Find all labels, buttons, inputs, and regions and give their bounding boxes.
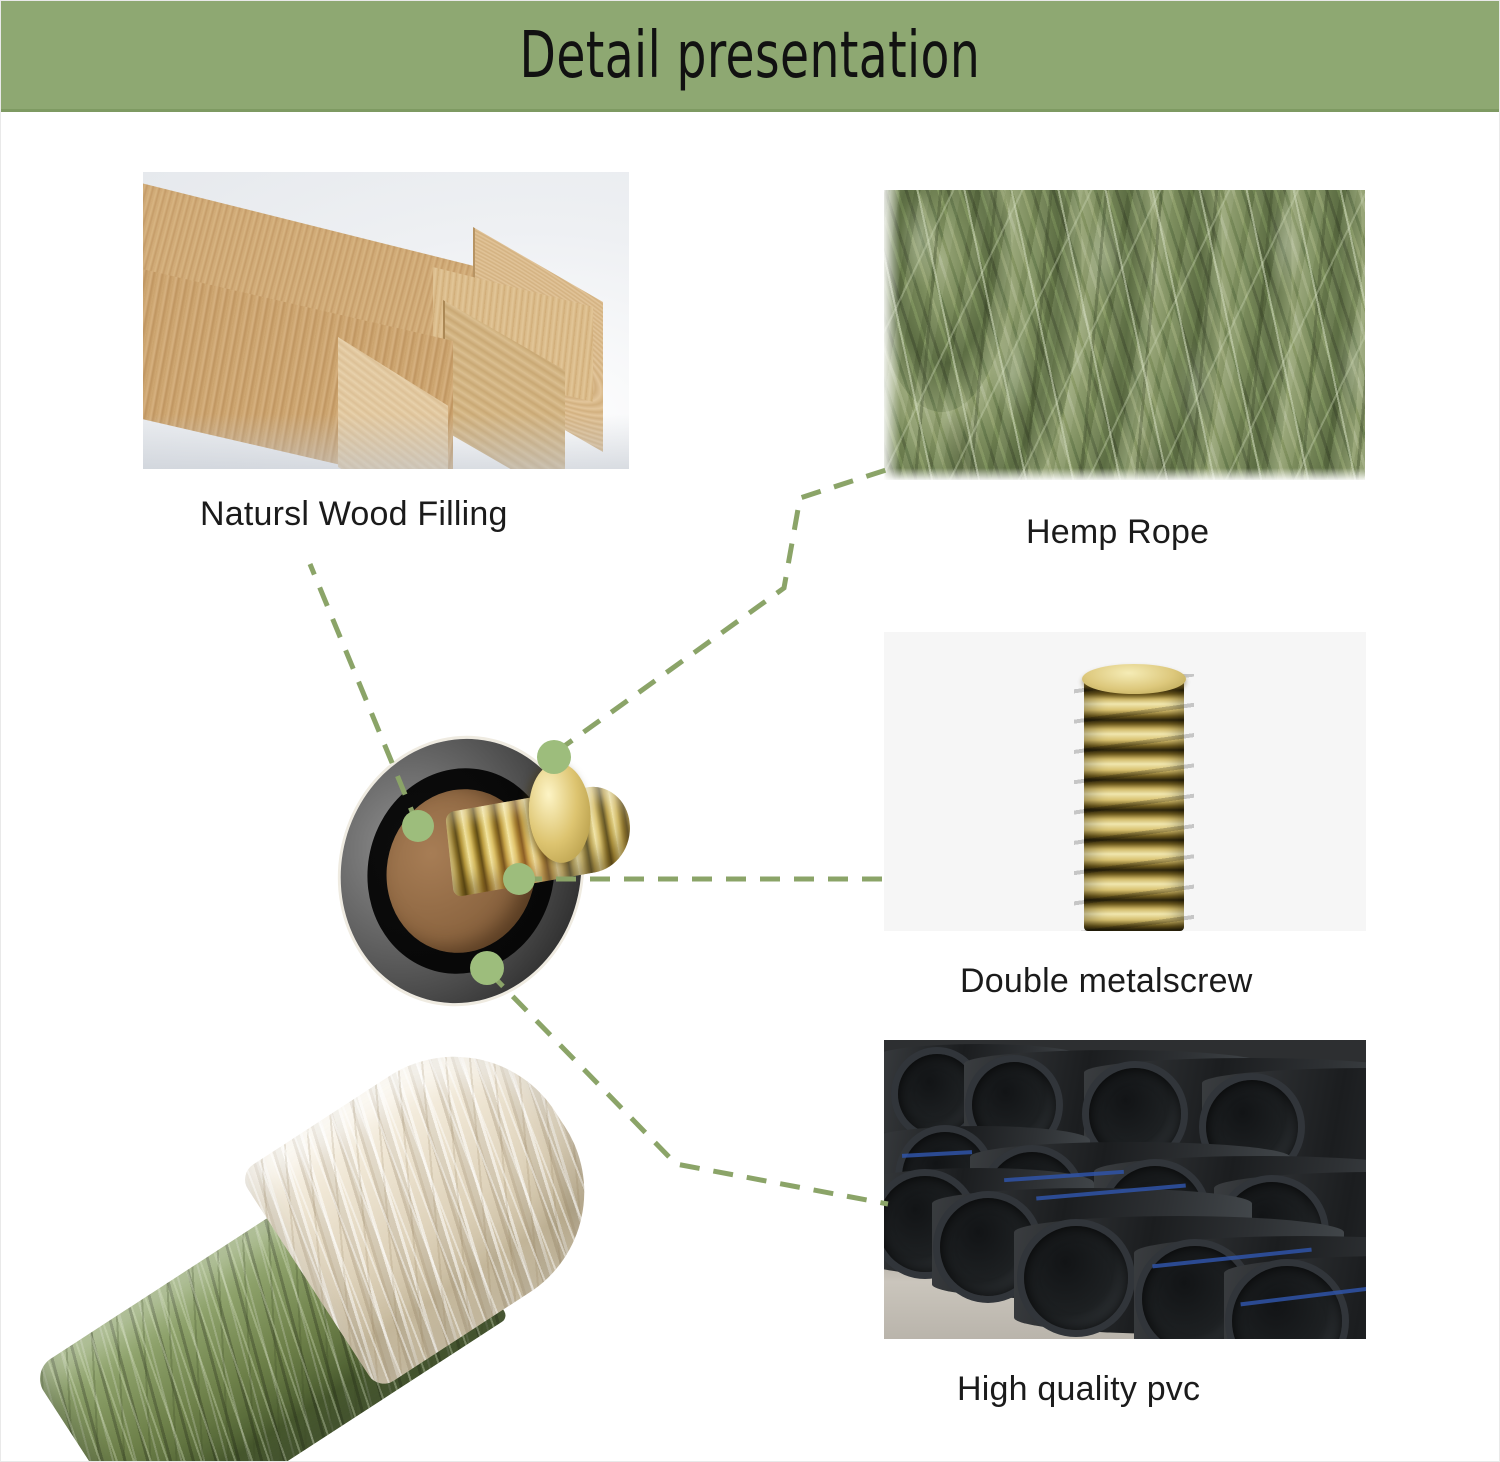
- screw-thread-overlay: [1074, 674, 1194, 931]
- caption-natural-wood-filling: Natursl Wood Filling: [200, 495, 508, 534]
- cat-scratching-post-pole-photo: [0, 690, 680, 1462]
- pipe-stack: [884, 1040, 1366, 1339]
- pipe-opening: [1024, 1226, 1128, 1330]
- rope-loose-fibers: [884, 190, 1365, 480]
- header-banner: Detail presentation: [0, 0, 1500, 112]
- brass-threaded-screw-photo: [884, 632, 1366, 931]
- caption-high-quality-pvc: High quality pvc: [957, 1370, 1200, 1409]
- screw-top-face: [1082, 664, 1186, 694]
- caption-hemp-rope: Hemp Rope: [1026, 513, 1209, 552]
- rope-photo-left-edge: [884, 190, 900, 480]
- wood-photo-shadow: [143, 414, 629, 469]
- page-title: Detail presentation: [520, 19, 981, 93]
- rope-photo-bottom-edge: [884, 468, 1365, 480]
- detail-presentation-page: Detail presentation: [0, 0, 1500, 1462]
- hdpe-pvc-pipes-photo: [884, 1040, 1366, 1339]
- product-end-cap: [298, 689, 624, 1052]
- caption-double-metalscrew: Double metalscrew: [960, 962, 1253, 1001]
- natural-wood-beams-photo: [143, 172, 629, 469]
- hemp-rope-closeup-photo: [884, 190, 1365, 480]
